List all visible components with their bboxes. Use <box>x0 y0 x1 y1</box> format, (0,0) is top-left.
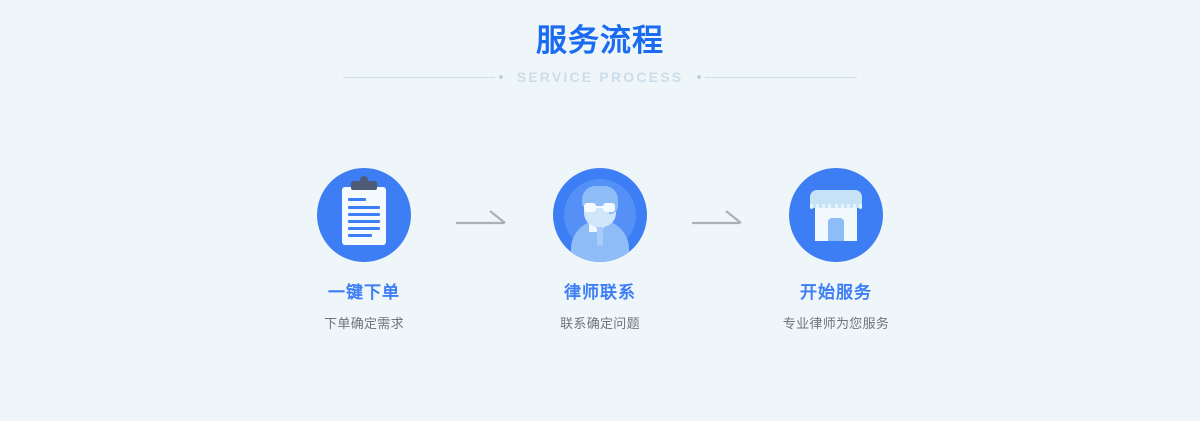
process-step-1: 一键下单 下单确定需求 <box>276 168 452 333</box>
section-subtitle: SERVICE PROCESS <box>503 69 698 85</box>
avatar-tie <box>597 226 603 246</box>
step-description: 联系确定问题 <box>560 315 640 333</box>
step-description: 专业律师为您服务 <box>783 315 889 333</box>
avatar-glasses-bridge <box>596 206 603 208</box>
process-step-2: 律师联系 联系确定问题 <box>512 168 688 333</box>
lawyer-avatar-icon <box>553 168 647 262</box>
clipboard-text-line <box>348 234 372 237</box>
arrow-right-icon <box>452 210 512 228</box>
decorative-line-bar <box>343 77 495 78</box>
decorative-line-left <box>343 75 503 79</box>
storefront-door <box>828 218 844 241</box>
clipboard-text-line <box>348 227 380 230</box>
section-header: 服务流程 SERVICE PROCESS <box>0 22 1200 87</box>
decorative-line-right <box>697 75 857 79</box>
arrow-right-icon <box>688 210 748 228</box>
page-title: 服务流程 <box>0 22 1200 60</box>
arrow-right-glyph <box>692 210 744 228</box>
decorative-line-bar <box>705 77 857 78</box>
process-steps: 一键下单 下单确定需求 律师联系 联系确定问题 <box>0 168 1200 333</box>
avatar-glasses-right <box>603 203 615 212</box>
storefront-icon <box>789 168 883 262</box>
clipboard-icon <box>317 168 411 262</box>
arrow-right-glyph <box>456 210 508 228</box>
clipboard-text-line <box>348 213 380 216</box>
step-label: 一键下单 <box>328 283 400 303</box>
subtitle-row: SERVICE PROCESS <box>0 67 1200 87</box>
clipboard-text-line <box>348 198 366 201</box>
storefront-awning-scallops <box>810 204 862 209</box>
step-label: 律师联系 <box>564 283 636 303</box>
process-step-3: 开始服务 专业律师为您服务 <box>748 168 924 333</box>
clipboard-clip-knob <box>360 176 368 184</box>
clipboard-text-line <box>348 206 380 209</box>
step-label: 开始服务 <box>800 283 872 303</box>
avatar-glasses-left <box>584 203 596 212</box>
decorative-dot <box>697 75 701 79</box>
step-description: 下单确定需求 <box>324 315 404 333</box>
clipboard-text-line <box>348 220 380 223</box>
